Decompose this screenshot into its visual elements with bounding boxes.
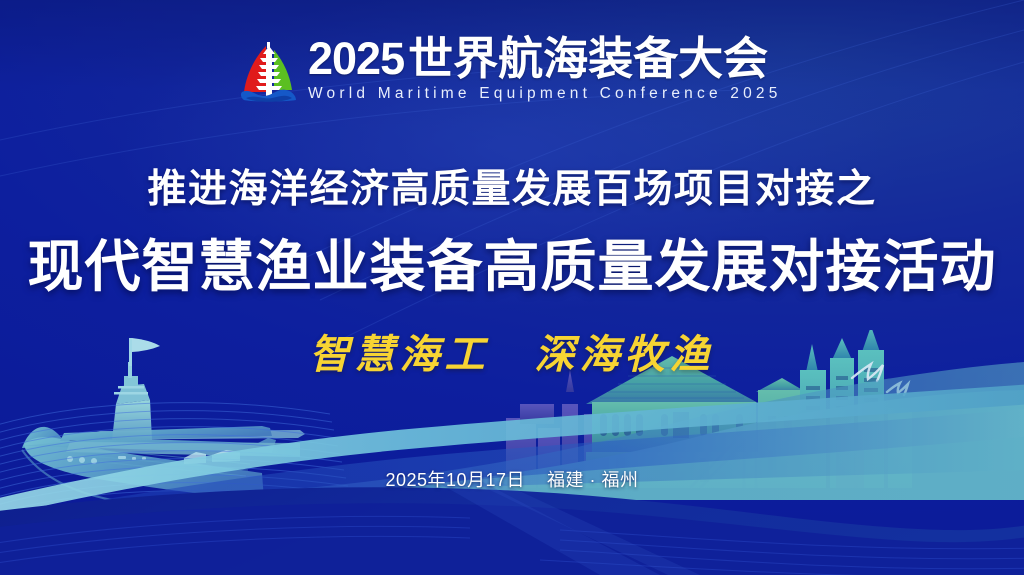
date-location-bar: 2025年10月17日福建 · 福州 bbox=[0, 466, 1024, 492]
logo-subtitle-en: World Maritime Equipment Conference 2025 bbox=[308, 85, 782, 103]
page-title: 现代智慧渔业装备高质量发展对接活动 bbox=[0, 222, 1024, 303]
event-date: 2025年10月17日 bbox=[385, 470, 525, 490]
slogan-text: 智慧海工 深海牧渔 bbox=[0, 322, 1024, 380]
conference-logo: 2025世界航海装备大会 World Maritime Equipment Co… bbox=[238, 36, 782, 112]
conference-banner: 2025世界航海装备大会 World Maritime Equipment Co… bbox=[0, 0, 1024, 575]
event-location: 福建 · 福州 bbox=[547, 470, 639, 490]
sailboat-pagoda-logo-icon bbox=[238, 38, 300, 108]
headline-line-1: 推进海洋经济高质量发展百场项目对接之 bbox=[0, 158, 1024, 214]
logo-title-cn: 2025世界航海装备大会 bbox=[308, 36, 782, 82]
logo-title-main: 世界航海装备大会 bbox=[408, 33, 768, 84]
logo-title-year: 2025 bbox=[308, 33, 404, 84]
logo-text-block: 2025世界航海装备大会 World Maritime Equipment Co… bbox=[308, 36, 782, 103]
